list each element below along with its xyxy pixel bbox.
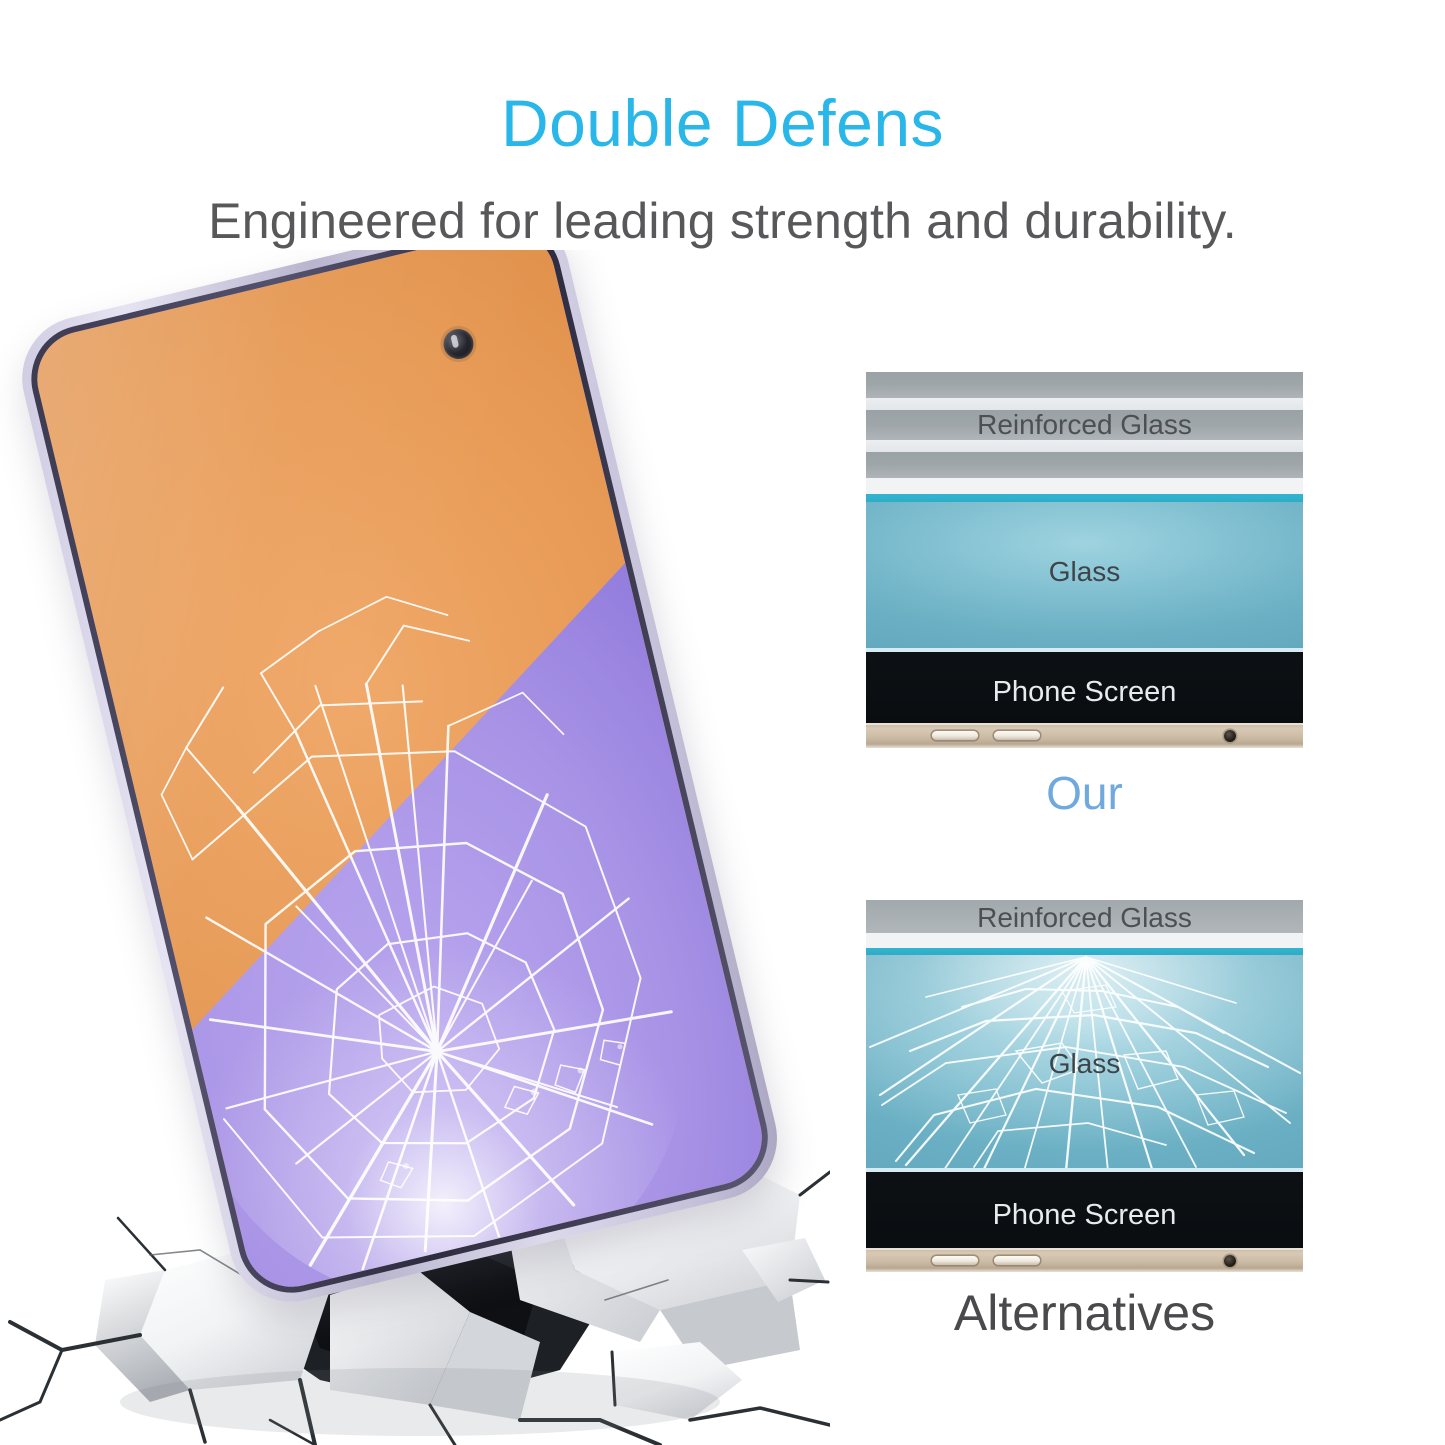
layer-label-phone-screen: Phone Screen — [866, 678, 1303, 707]
layer-label-reinforced-glass: Reinforced Glass — [866, 904, 1303, 932]
product-marketing-image: Double Defens Engineered for leading str… — [0, 0, 1445, 1445]
layer-label-phone-screen: Phone Screen — [866, 1201, 1303, 1230]
layer-label-glass: Glass — [866, 558, 1303, 586]
glass-accent-line — [866, 948, 1303, 955]
page-subtitle: Engineered for leading strength and dura… — [0, 196, 1445, 246]
phone-screen-layer: Phone Screen — [866, 652, 1303, 723]
charging-port-icon — [994, 731, 1040, 740]
reinforced-gap-1 — [866, 933, 1303, 948]
speaker-slot-icon — [932, 1256, 978, 1265]
glass-accent-line — [866, 494, 1303, 502]
reinforced-gap-2 — [866, 440, 1303, 452]
reinforced-gap-3 — [866, 478, 1303, 494]
device-bottom-edge — [866, 1248, 1303, 1272]
speaker-slot-icon — [932, 731, 978, 740]
glass-layer-shattered: Glass — [866, 955, 1303, 1172]
caption-our: Our — [866, 770, 1303, 816]
page-title: Double Defens — [0, 90, 1445, 156]
layer-label-reinforced-glass: Reinforced Glass — [866, 411, 1303, 439]
headphone-jack-icon — [1224, 1255, 1236, 1267]
device-bottom-edge — [866, 723, 1303, 748]
hero-illustration — [0, 250, 830, 1445]
caption-alternatives: Alternatives — [866, 1288, 1303, 1338]
headphone-jack-icon — [1224, 730, 1236, 742]
layer-label-glass: Glass — [866, 1050, 1303, 1078]
charging-port-icon — [994, 1256, 1040, 1265]
comparison-panel-our: Reinforced Glass Glass Phone Screen — [866, 372, 1303, 748]
reinforced-stripe-1 — [866, 372, 1303, 398]
reinforced-stripe-3 — [866, 452, 1303, 478]
glass-layer-intact: Glass — [866, 502, 1303, 648]
comparison-panel-alternatives: Reinforced Glass — [866, 900, 1303, 1272]
phone-screen-layer: Phone Screen — [866, 1172, 1303, 1248]
